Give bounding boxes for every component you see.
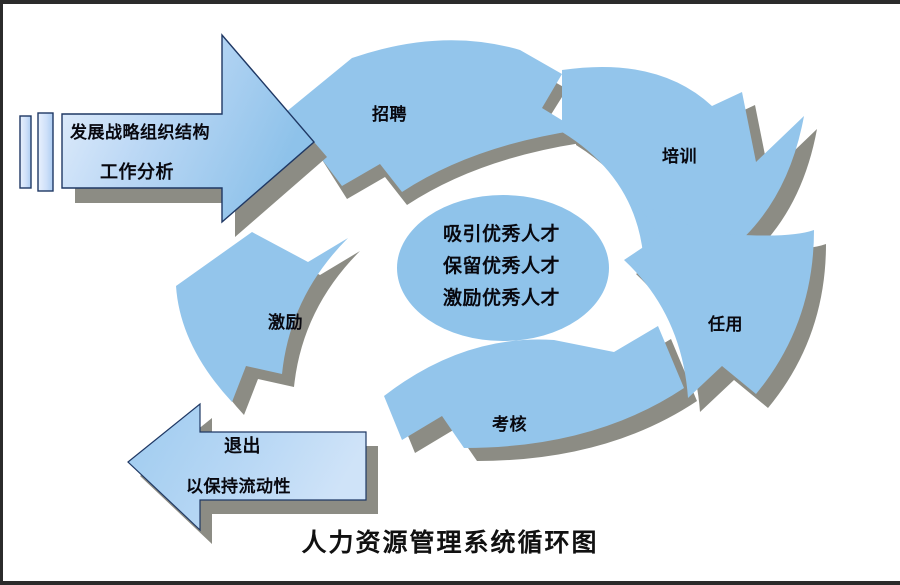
- input-bar-2: [38, 113, 53, 191]
- petal-recruitment[interactable]: [286, 40, 578, 192]
- diagram-artwork: [0, 0, 900, 585]
- center-ellipse[interactable]: [397, 195, 609, 341]
- input-bar-1: [20, 116, 31, 188]
- diagram-title: 人力资源管理系统循环图: [0, 523, 900, 559]
- strategy-input-bars: [20, 113, 53, 191]
- diagram-canvas: 发展战略组织结构 工作分析 招聘 培训 任用 考核 激励 吸引优秀人才 保留优秀…: [0, 0, 900, 585]
